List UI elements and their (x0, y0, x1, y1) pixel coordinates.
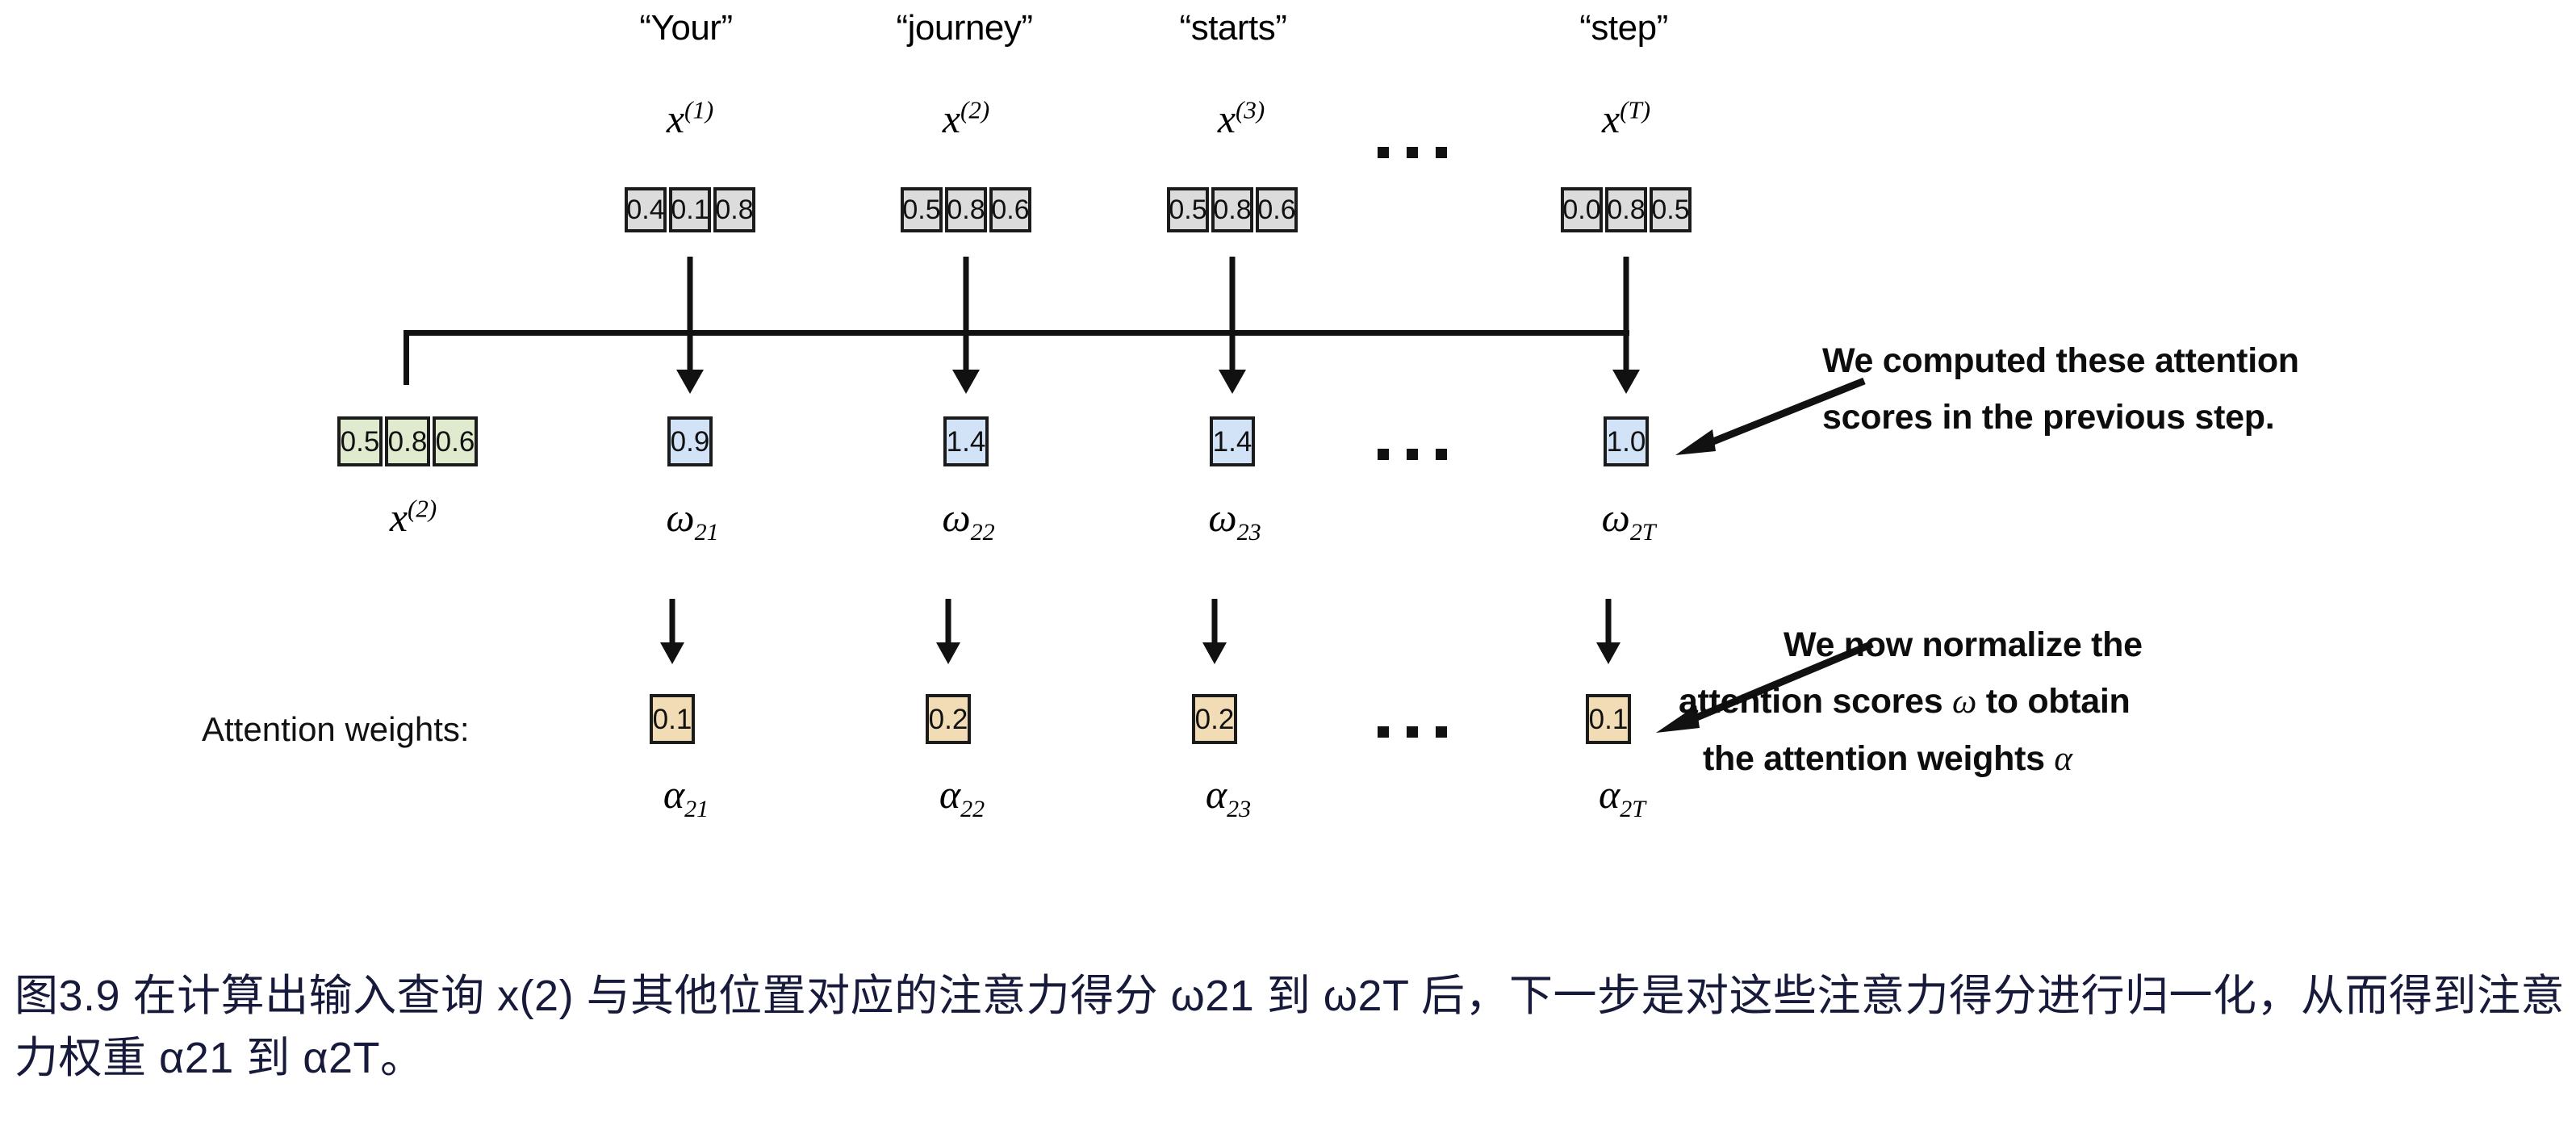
query-vector-symbol: x(2) (390, 494, 437, 541)
weight-cell: 0.2 (1192, 694, 1237, 744)
weight-symbol-3-base: α (1206, 772, 1227, 817)
input-cell: 0.5 (1167, 187, 1209, 232)
attention-weight-box-3: 0.2 (1192, 694, 1237, 744)
dot (1378, 726, 1389, 738)
query-symbol-base: x (390, 495, 408, 540)
input-cell: 0.8 (1605, 187, 1647, 232)
callout-weights-line2: attention scores ω to obtain (1679, 678, 2143, 726)
input-vector-2: 0.5 0.8 0.6 (901, 187, 1031, 232)
input-symbol-3-sup: (3) (1236, 95, 1265, 123)
dot (1407, 147, 1418, 158)
alpha-symbol: α (2054, 740, 2072, 778)
input-cell: 0.8 (713, 187, 755, 232)
input-symbol-4-sup: (T) (1620, 95, 1650, 123)
input-cell: 0.8 (945, 187, 987, 232)
input-cell: 0.5 (1650, 187, 1692, 232)
attention-score-box-3: 1.4 (1210, 416, 1255, 466)
callout-weights-note: We now normalize the attention scores ω … (1784, 621, 2143, 783)
query-cell: 0.6 (433, 416, 478, 466)
input-symbol-4: x(T) (1602, 95, 1650, 142)
score-symbol-3: ω23 (1208, 494, 1261, 546)
arrow-score-to-weight-2 (934, 599, 963, 667)
input-symbol-2-base: x (943, 96, 960, 141)
attention-score-box-4: 1.0 (1604, 416, 1649, 466)
weight-symbol-4: α2T (1599, 771, 1646, 823)
input-symbol-3: x(3) (1218, 95, 1265, 142)
dot (1436, 147, 1447, 158)
weight-cell: 0.1 (1586, 694, 1631, 744)
input-symbol-3-base: x (1218, 96, 1236, 141)
callout-scores-line2: scores in the previous step. (1822, 394, 2299, 441)
weight-symbol-1-sub: 21 (684, 796, 709, 822)
figure-canvas: “Your” “journey” “starts” “step” x(1) x(… (0, 0, 2576, 1125)
weight-cell: 0.1 (650, 694, 695, 744)
input-row-ellipsis (1378, 147, 1447, 158)
score-symbol-4-base: ω (1602, 495, 1630, 540)
input-cell: 0.6 (1256, 187, 1298, 232)
input-symbol-1-sup: (1) (684, 95, 713, 123)
score-symbol-2-sub: 22 (971, 519, 995, 546)
weight-symbol-3-sub: 23 (1227, 796, 1251, 822)
input-symbol-2-sup: (2) (960, 95, 989, 123)
input-vector-4: 0.0 0.8 0.5 (1561, 187, 1692, 232)
input-cell: 0.1 (669, 187, 711, 232)
omega-symbol: ω (1952, 683, 1976, 721)
attention-weight-box-2: 0.2 (926, 694, 971, 744)
weight-cell: 0.2 (926, 694, 971, 744)
callout-weights-line2-post: to obtain (1976, 682, 2130, 721)
weight-row-ellipsis (1378, 726, 1447, 738)
arrow-score-to-weight-3 (1200, 599, 1229, 667)
score-cell: 1.0 (1604, 416, 1649, 466)
arrow-score-to-weight-1 (658, 599, 687, 667)
score-symbol-4-sub: 2T (1630, 519, 1656, 546)
input-cell: 0.5 (901, 187, 943, 232)
attention-weight-box-1: 0.1 (650, 694, 695, 744)
connector-bus (404, 330, 1629, 336)
query-vector: 0.5 0.8 0.6 (337, 416, 478, 466)
arrow-input-to-score-3 (1216, 257, 1248, 394)
weight-symbol-1-base: α (663, 772, 684, 817)
score-symbol-1: ω21 (666, 494, 718, 546)
callout-weights-line3-pre: the attention weights (1703, 739, 2054, 778)
weight-symbol-2-sub: 22 (960, 796, 985, 822)
score-symbol-2-base: ω (942, 495, 970, 540)
callout-scores-note: We computed these attention scores in th… (1822, 337, 2299, 441)
weight-symbol-4-sub: 2T (1620, 796, 1646, 822)
dot (1436, 449, 1447, 460)
input-cell: 0.8 (1211, 187, 1253, 232)
score-cell: 1.4 (943, 416, 989, 466)
score-symbol-3-base: ω (1208, 495, 1236, 540)
figure-caption: 图3.9 在计算出输入查询 x(2) 与其他位置对应的注意力得分 ω21 到 ω… (15, 965, 2573, 1089)
dot (1378, 449, 1389, 460)
score-row-ellipsis (1378, 449, 1447, 460)
input-vector-1: 0.4 0.1 0.8 (625, 187, 755, 232)
callout-scores-line1: We computed these attention (1822, 337, 2299, 384)
arrow-input-to-score-2 (950, 257, 982, 394)
input-symbol-4-base: x (1602, 96, 1620, 141)
input-vector-3: 0.5 0.8 0.6 (1167, 187, 1298, 232)
callout-weights-line2-pre: attention scores (1679, 682, 1952, 721)
dot (1407, 449, 1418, 460)
weight-symbol-1: α21 (663, 771, 709, 823)
weight-symbol-4-base: α (1599, 772, 1620, 817)
query-symbol-sup: (2) (408, 494, 437, 522)
weight-symbol-2: α22 (939, 771, 985, 823)
callout-weights-line3: the attention weights α (1703, 735, 2143, 783)
score-symbol-1-sub: 21 (695, 519, 719, 546)
input-cell: 0.0 (1561, 187, 1603, 232)
arrow-input-to-score-4 (1610, 257, 1642, 394)
input-cell: 0.4 (625, 187, 667, 232)
attention-weights-row-label: Attention weights: (202, 710, 470, 749)
score-symbol-3-sub: 23 (1237, 519, 1261, 546)
dot (1436, 726, 1447, 738)
score-symbol-4: ω2T (1602, 494, 1656, 546)
token-word-1: “Your” (639, 8, 732, 48)
connector-left-stub (404, 330, 409, 385)
weight-symbol-3: α23 (1206, 771, 1251, 823)
dot (1407, 726, 1418, 738)
attention-score-box-1: 0.9 (667, 416, 713, 466)
token-word-3: “starts” (1180, 8, 1287, 48)
score-symbol-2: ω22 (942, 494, 994, 546)
input-cell: 0.6 (989, 187, 1031, 232)
arrow-input-to-score-1 (674, 257, 706, 394)
input-symbol-2: x(2) (943, 95, 989, 142)
score-cell: 1.4 (1210, 416, 1255, 466)
query-cell: 0.5 (337, 416, 383, 466)
arrow-score-to-weight-4 (1594, 599, 1623, 667)
attention-score-box-2: 1.4 (943, 416, 989, 466)
attention-weight-box-4: 0.1 (1586, 694, 1631, 744)
score-cell: 0.9 (667, 416, 713, 466)
token-word-2: “journey” (896, 8, 1032, 48)
token-word-4: “step” (1579, 8, 1667, 48)
callout-weights-line1: We now normalize the (1784, 621, 2143, 668)
dot (1378, 147, 1389, 158)
input-symbol-1: x(1) (667, 95, 713, 142)
input-symbol-1-base: x (667, 96, 684, 141)
score-symbol-1-base: ω (666, 495, 694, 540)
query-cell: 0.8 (385, 416, 430, 466)
weight-symbol-2-base: α (939, 772, 960, 817)
